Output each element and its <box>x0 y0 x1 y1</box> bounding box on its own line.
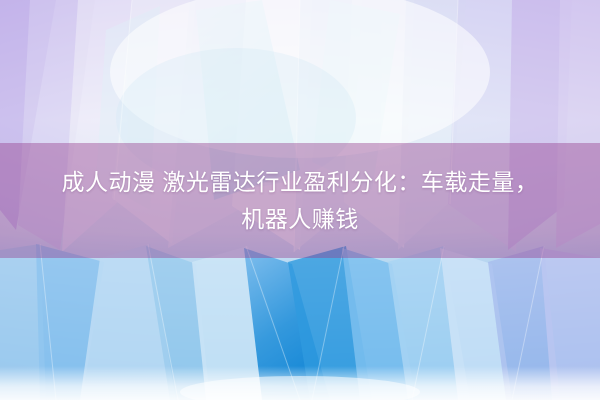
title-banner: 成人动漫 激光雷达行业盈利分化：车载走量， 机器人赚钱 <box>0 143 600 258</box>
title-line-1: 成人动漫 激光雷达行业盈利分化：车载走量， <box>62 164 539 201</box>
poster-image: 成人动漫 激光雷达行业盈利分化：车载走量， 机器人赚钱 <box>0 0 600 400</box>
title-line-2: 机器人赚钱 <box>241 201 359 238</box>
